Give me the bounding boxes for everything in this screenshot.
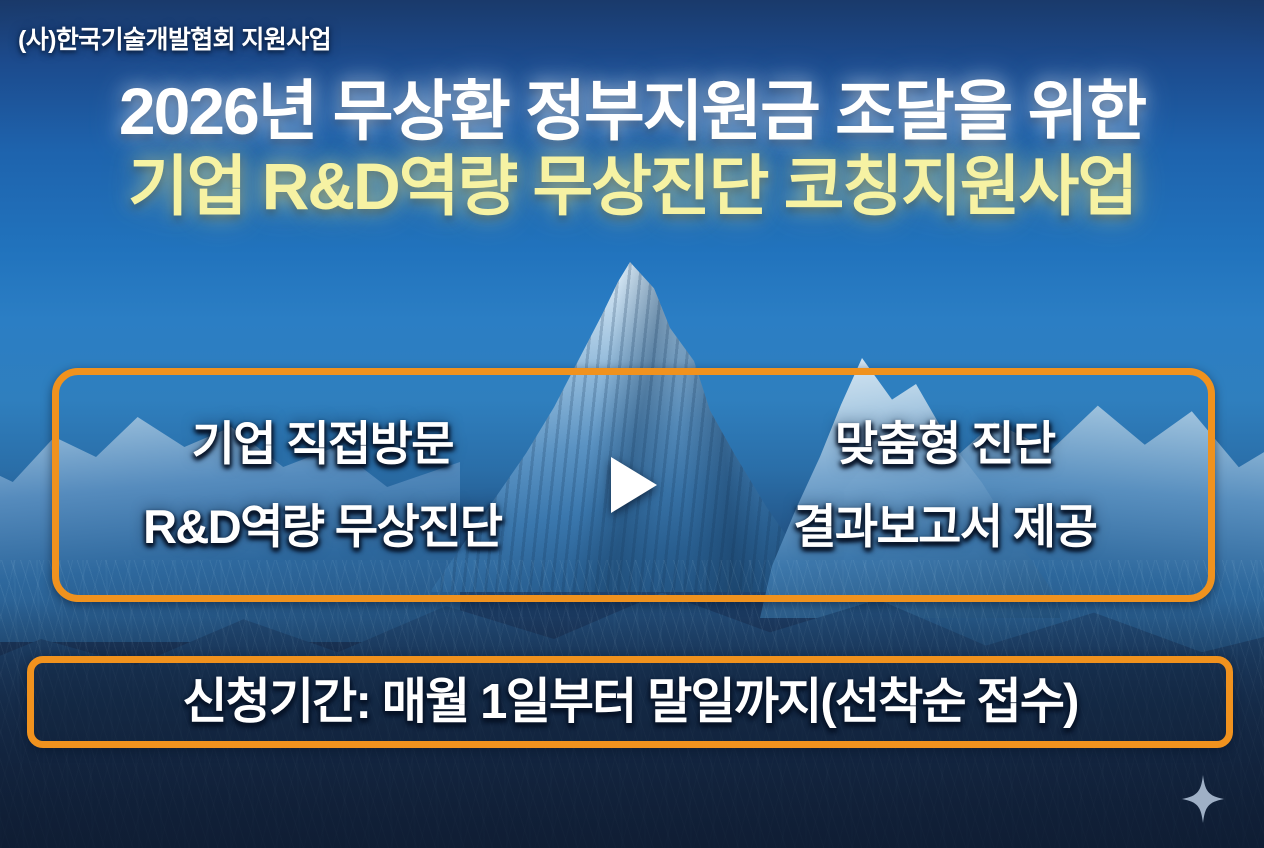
process-flow-grid: 기업 직접방문 R&D역량 무상진단 맞춤형 진단 결과보고서 제공 (59, 375, 1208, 595)
process-after-line-2: 결과보고서 제공 (682, 503, 1209, 550)
application-period-text: 신청기간: 매월 1일부터 말일까지(선착순 접수) (182, 678, 1077, 727)
organization-label: (사)한국기술개발협회 지원사업 (18, 20, 331, 56)
title-line-2: 기업 R&D역량 무상진단 코칭지원사업 (0, 153, 1264, 220)
process-after-column: 맞춤형 진단 결과보고서 제공 (682, 420, 1209, 550)
page-title: 2026년 무상환 정부지원금 조달을 위한 기업 R&D역량 무상진단 코칭지… (0, 78, 1264, 221)
process-arrow-column (586, 457, 682, 513)
process-before-column: 기업 직접방문 R&D역량 무상진단 (59, 420, 586, 550)
sparkle-four-point-star-icon (1182, 775, 1224, 823)
process-before-line-1: 기업 직접방문 (59, 420, 586, 467)
title-line-1: 2026년 무상환 정부지원금 조달을 위한 (0, 78, 1264, 145)
arrow-right-triangle-icon (611, 457, 657, 513)
process-before-line-2: R&D역량 무상진단 (59, 503, 586, 550)
promo-banner: (사)한국기술개발협회 지원사업 2026년 무상환 정부지원금 조달을 위한 … (0, 0, 1264, 848)
process-after-line-1: 맞춤형 진단 (682, 420, 1209, 467)
application-period-box: 신청기간: 매월 1일부터 말일까지(선착순 접수) (27, 656, 1233, 748)
process-flow-box: 기업 직접방문 R&D역량 무상진단 맞춤형 진단 결과보고서 제공 (52, 368, 1215, 602)
